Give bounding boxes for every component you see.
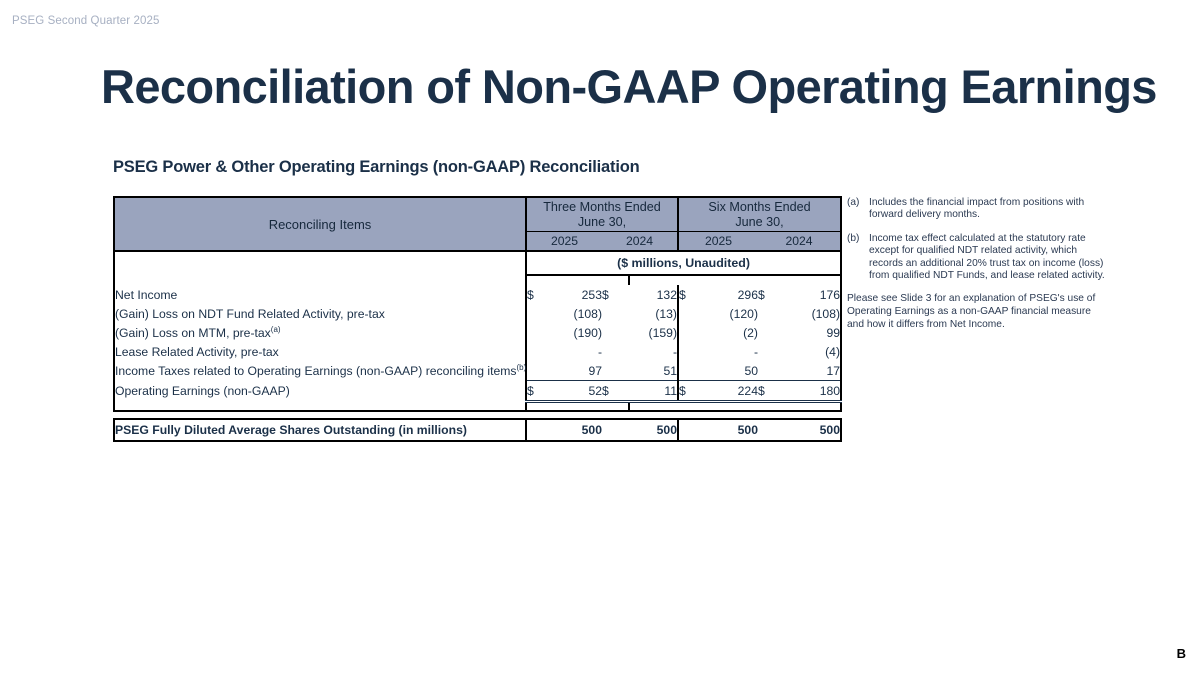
pad-six-months bbox=[629, 402, 785, 412]
cell-value: 97 bbox=[552, 361, 602, 381]
currency-symbol bbox=[602, 342, 629, 361]
cell-value: (120) bbox=[705, 304, 758, 323]
table-row: (Gain) Loss on NDT Fund Related Activity… bbox=[114, 304, 841, 323]
cell-value: 11 bbox=[629, 381, 678, 402]
cell-value: - bbox=[552, 342, 602, 361]
currency-symbol: $ bbox=[526, 381, 552, 402]
section-title: PSEG Power & Other Operating Earnings (n… bbox=[113, 158, 639, 177]
column-group-six-months: Six Months Ended June 30, bbox=[678, 197, 841, 232]
cell-value: 224 bbox=[705, 381, 758, 402]
currency-symbol bbox=[678, 361, 705, 381]
currency-symbol bbox=[678, 323, 705, 342]
currency-symbol: $ bbox=[758, 285, 785, 304]
row-label: PSEG Fully Diluted Average Shares Outsta… bbox=[114, 419, 526, 441]
column-header-six-months-2025: 2025 bbox=[678, 232, 758, 252]
table-row-total: Operating Earnings (non-GAAP) $ 52 $ 11 … bbox=[114, 381, 841, 402]
pad-edge bbox=[785, 402, 841, 412]
spacer-six-months bbox=[629, 275, 785, 285]
reconciliation-table: Reconciling Items Three Months Ended Jun… bbox=[113, 196, 820, 412]
table-bottom-pad-row bbox=[114, 402, 841, 412]
currency-symbol: $ bbox=[602, 285, 629, 304]
cell-value: (190) bbox=[552, 323, 602, 342]
units-banner-spacer bbox=[114, 251, 526, 275]
footnotes-panel: (a) Includes the financial impact from p… bbox=[847, 197, 1105, 331]
cell-value: 176 bbox=[785, 285, 841, 304]
currency-symbol bbox=[758, 342, 785, 361]
cell-value: 500 bbox=[678, 419, 758, 441]
row-label: Lease Related Activity, pre-tax bbox=[114, 342, 526, 361]
table-units-banner-row: ($ millions, Unaudited) bbox=[114, 251, 841, 275]
page-marker: B bbox=[1177, 646, 1186, 661]
cell-value: 296 bbox=[705, 285, 758, 304]
currency-symbol: $ bbox=[758, 381, 785, 402]
footnote-marker-b: (b) bbox=[516, 363, 526, 372]
currency-symbol bbox=[602, 361, 629, 381]
cell-value: - bbox=[705, 342, 758, 361]
row-label: (Gain) Loss on NDT Fund Related Activity… bbox=[114, 304, 526, 323]
currency-symbol: $ bbox=[602, 381, 629, 402]
reconciliation-table-grid: Reconciling Items Three Months Ended Jun… bbox=[113, 196, 842, 412]
cell-value: 253 bbox=[552, 285, 602, 304]
table-row: (Gain) Loss on MTM, pre-tax(a) (190) (15… bbox=[114, 323, 841, 342]
cell-value: 500 bbox=[526, 419, 602, 441]
footnote-marker-a: (a) bbox=[271, 324, 281, 333]
cell-value: 180 bbox=[785, 381, 841, 402]
table-row: Income Taxes related to Operating Earnin… bbox=[114, 361, 841, 381]
cell-value: 52 bbox=[552, 381, 602, 402]
row-label: Income Taxes related to Operating Earnin… bbox=[114, 361, 526, 381]
column-group-three-months: Three Months Ended June 30, bbox=[526, 197, 678, 232]
currency-symbol bbox=[758, 361, 785, 381]
row-label: (Gain) Loss on MTM, pre-tax(a) bbox=[114, 323, 526, 342]
units-banner: ($ millions, Unaudited) bbox=[526, 251, 841, 275]
group-label-line2: June 30, bbox=[735, 215, 783, 229]
deck-label: PSEG Second Quarter 2025 bbox=[12, 15, 160, 27]
footnote-text: Includes the financial impact from posit… bbox=[869, 197, 1105, 222]
row-label: Net Income bbox=[114, 285, 526, 304]
footnote-key: (a) bbox=[847, 197, 869, 222]
cell-value: 500 bbox=[758, 419, 841, 441]
row-label-text: Income Taxes related to Operating Earnin… bbox=[115, 364, 516, 378]
spacer-edge bbox=[785, 275, 841, 285]
cell-value: - bbox=[629, 342, 678, 361]
cell-value: (108) bbox=[785, 304, 841, 323]
currency-symbol: $ bbox=[526, 285, 552, 304]
currency-symbol bbox=[602, 304, 629, 323]
table-row-shares: PSEG Fully Diluted Average Shares Outsta… bbox=[114, 419, 841, 441]
table-row: Net Income $ 253 $ 132 $ 296 $ 176 bbox=[114, 285, 841, 304]
row-label: Operating Earnings (non-GAAP) bbox=[114, 381, 526, 402]
column-header-three-months-2024: 2024 bbox=[602, 232, 678, 252]
pad-label-cell bbox=[114, 402, 526, 412]
row-label-text: (Gain) Loss on MTM, pre-tax bbox=[115, 326, 271, 340]
currency-symbol bbox=[526, 342, 552, 361]
shares-outstanding-band: PSEG Fully Diluted Average Shares Outsta… bbox=[113, 418, 820, 442]
currency-symbol bbox=[602, 323, 629, 342]
pad-three-months bbox=[526, 402, 629, 412]
currency-symbol bbox=[758, 323, 785, 342]
column-header-six-months-2024: 2024 bbox=[758, 232, 841, 252]
group-label-line1: Three Months Ended bbox=[543, 200, 661, 214]
footnote-key: (b) bbox=[847, 233, 869, 283]
table-row: Lease Related Activity, pre-tax - - - (4… bbox=[114, 342, 841, 361]
column-header-reconciling-items: Reconciling Items bbox=[114, 197, 526, 251]
cell-value: (159) bbox=[629, 323, 678, 342]
table-header-row-periods: Reconciling Items Three Months Ended Jun… bbox=[114, 197, 841, 232]
page-title: Reconciliation of Non-GAAP Operating Ear… bbox=[101, 56, 1157, 118]
group-label-line2: June 30, bbox=[578, 215, 626, 229]
group-label-line1: Six Months Ended bbox=[708, 200, 810, 214]
footnote-b: (b) Income tax effect calculated at the … bbox=[847, 233, 1105, 283]
cell-value: 17 bbox=[785, 361, 841, 381]
spacer-three-months bbox=[526, 275, 629, 285]
footnote-text: Income tax effect calculated at the stat… bbox=[869, 233, 1105, 283]
currency-symbol: $ bbox=[678, 381, 705, 402]
currency-symbol bbox=[678, 304, 705, 323]
spacer-label-cell bbox=[114, 275, 526, 285]
shares-outstanding-grid: PSEG Fully Diluted Average Shares Outsta… bbox=[113, 418, 842, 442]
currency-symbol: $ bbox=[678, 285, 705, 304]
table-spacer-row bbox=[114, 275, 841, 285]
cell-value: 50 bbox=[705, 361, 758, 381]
cell-value: (108) bbox=[552, 304, 602, 323]
currency-symbol bbox=[678, 342, 705, 361]
currency-symbol bbox=[758, 304, 785, 323]
cell-value: (13) bbox=[629, 304, 678, 323]
column-header-three-months-2025: 2025 bbox=[526, 232, 602, 252]
footnote-paragraph: Please see Slide 3 for an explanation of… bbox=[847, 293, 1105, 331]
cell-value: 51 bbox=[629, 361, 678, 381]
footnote-a: (a) Includes the financial impact from p… bbox=[847, 197, 1105, 222]
cell-value: 500 bbox=[602, 419, 678, 441]
cell-value: 99 bbox=[785, 323, 841, 342]
currency-symbol bbox=[526, 304, 552, 323]
cell-value: 132 bbox=[629, 285, 678, 304]
currency-symbol bbox=[526, 323, 552, 342]
currency-symbol bbox=[526, 361, 552, 381]
cell-value: (2) bbox=[705, 323, 758, 342]
cell-value: (4) bbox=[785, 342, 841, 361]
